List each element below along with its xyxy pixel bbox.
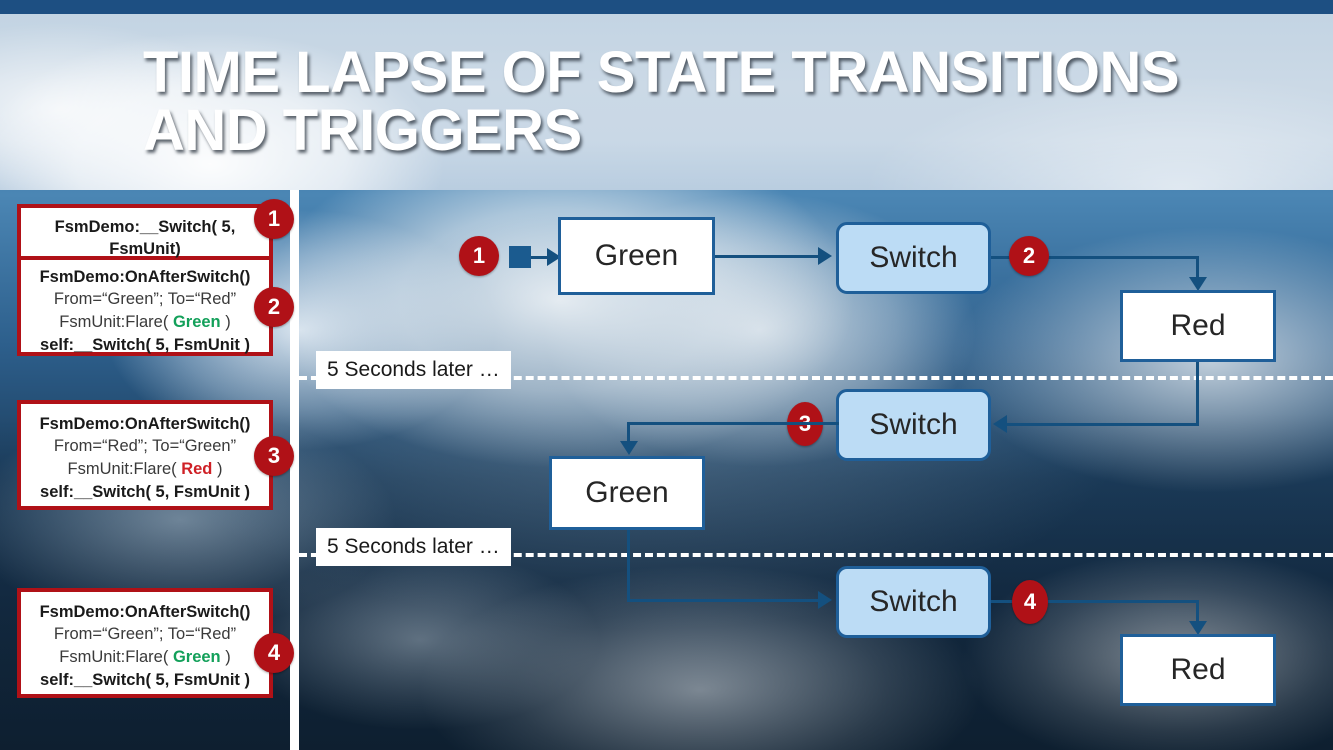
node-red-2[interactable]: Red [1120, 634, 1276, 706]
note-4-line-3: FsmUnit:Flare( Green ) [21, 646, 269, 669]
connector-green2-down [627, 530, 630, 600]
note-card-2: FsmDemo:OnAfterSwitch() From=“Green”; To… [17, 258, 273, 356]
note-3-line-2: From=“Red”; To=“Green” [21, 435, 269, 458]
note-card-4: FsmDemo:OnAfterSwitch() From=“Green”; To… [17, 588, 273, 698]
note-badge-3: 3 [254, 436, 294, 476]
arrowhead-into-red1 [1189, 277, 1207, 291]
note-badge-2: 2 [254, 287, 294, 327]
arrowhead-into-red2 [1189, 621, 1207, 635]
note-4-line-4: self:__Switch( 5, FsmUnit ) [21, 669, 269, 691]
start-marker-square [509, 246, 531, 268]
note-badge-1: 1 [254, 199, 294, 239]
arrowhead-into-switch2 [993, 415, 1007, 433]
node-green-2-label: Green [585, 476, 668, 510]
node-switch-1[interactable]: Switch [836, 222, 991, 294]
slide-canvas: Time Lapse of State Transitions and Trig… [0, 0, 1333, 750]
node-green-2[interactable]: Green [549, 456, 705, 530]
node-red-2-label: Red [1170, 653, 1225, 687]
note-4-line-2: From=“Green”; To=“Red” [21, 623, 269, 646]
note-2-line-2: From=“Green”; To=“Red” [21, 288, 269, 311]
connector-into-switch3 [627, 599, 821, 602]
note-4-line-1: FsmDemo:OnAfterSwitch() [21, 601, 269, 623]
note-card-3: FsmDemo:OnAfterSwitch() From=“Red”; To=“… [17, 400, 273, 510]
top-accent-bar [0, 0, 1333, 14]
connector-red1-down [1196, 362, 1199, 424]
note-4-close: ) [221, 648, 231, 666]
note-3-call: FsmUnit:Flare( [68, 460, 182, 478]
step-badge-4: 4 [1012, 580, 1048, 624]
page-title: Time Lapse of State Transitions and Trig… [143, 44, 1243, 160]
note-2-line-3: FsmUnit:Flare( Green ) [21, 311, 269, 334]
note-2-keyword: Green [173, 313, 221, 331]
note-2-line-4: self:__Switch( 5, FsmUnit ) [21, 334, 269, 356]
note-4-keyword: Green [173, 648, 221, 666]
time-separator-label-1: 5 Seconds later … [316, 351, 511, 389]
note-3-line-1: FsmDemo:OnAfterSwitch() [21, 413, 269, 435]
connector-into-switch2 [1005, 423, 1199, 426]
note-2-line-1: FsmDemo:OnAfterSwitch() [21, 266, 269, 288]
node-red-1[interactable]: Red [1120, 290, 1276, 362]
note-badge-4: 4 [254, 633, 294, 673]
note-3-keyword: Red [181, 460, 212, 478]
node-red-1-label: Red [1170, 309, 1225, 343]
note-3-close: ) [212, 460, 222, 478]
node-green-1-label: Green [595, 239, 678, 273]
node-green-1[interactable]: Green [558, 217, 715, 295]
panel-divider [290, 190, 299, 750]
connector-green1-to-switch1 [715, 255, 821, 258]
note-2-call: FsmUnit:Flare( [59, 313, 173, 331]
arrowhead-into-green2 [620, 441, 638, 455]
note-3-line-4: self:__Switch( 5, FsmUnit ) [21, 481, 269, 503]
node-switch-1-label: Switch [869, 241, 957, 275]
node-switch-3[interactable]: Switch [836, 566, 991, 638]
connector-switch2-left [627, 422, 839, 425]
note-1-line-2: FsmUnit) [21, 238, 269, 260]
note-2-close: ) [221, 313, 231, 331]
arrowhead-into-switch3 [818, 591, 832, 609]
note-4-call: FsmUnit:Flare( [59, 648, 173, 666]
time-separator-label-2: 5 Seconds later … [316, 528, 511, 566]
node-switch-2[interactable]: Switch [836, 389, 991, 461]
note-3-line-3: FsmUnit:Flare( Red ) [21, 458, 269, 481]
step-badge-1: 1 [459, 236, 499, 276]
step-badge-2: 2 [1009, 236, 1049, 276]
note-card-1: FsmDemo:__Switch( 5, FsmUnit) [17, 204, 273, 258]
node-switch-2-label: Switch [869, 408, 957, 442]
note-1-line-1: FsmDemo:__Switch( 5, [21, 216, 269, 238]
arrowhead-into-switch1 [818, 247, 832, 265]
node-switch-3-label: Switch [869, 585, 957, 619]
